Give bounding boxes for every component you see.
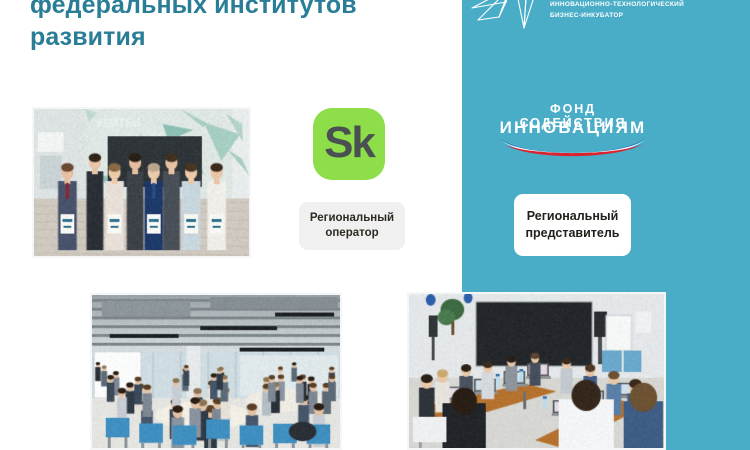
coworking-session-photo [90,293,342,450]
fond-innovatsiyam-logo: ФОНД СОДЕЙСТВИЯ ИННОВАЦИЯМ [497,100,649,162]
page-title-line-1: федеральных институтов [30,0,450,22]
chip-regional-operator-label: Региональныйоператор [305,211,399,242]
page-title: федеральных институтов развития [30,0,450,53]
slide-canvas: федеральных институтов развития КРАСНОЯР… [0,0,750,450]
origami-bird-icon [466,0,546,38]
kritbi-text-line-3: БИЗНЕС-ИНКУБАТОР [550,10,750,21]
skolkovo-sk-text: Sk [324,121,374,165]
award-group-photo [32,107,251,258]
award-group-photo-image [34,109,249,256]
coworking-session-photo-image [92,295,340,448]
russian-tricolor-swoosh-icon [497,136,649,162]
page-title-line-2: развития [30,22,450,54]
workshop-room-photo-image [409,294,664,448]
chip-regional-representative-label: Региональныйпредставитель [520,208,624,242]
skolkovo-sk-logo: Sk [313,108,385,180]
fond-logo-line-2: ИННОВАЦИЯМ [497,118,649,138]
kritbi-text-line-2: ИННОВАЦИОННО-ТЕХНОЛОГИЧЕСКИЙ [550,0,750,10]
kritbi-logo: КРАСНОЯРСКИЙ РЕГИОНАЛЬНЫЙ ИННОВАЦИОННО-Т… [464,0,750,44]
chip-regional-operator: Региональныйоператор [299,202,405,250]
kritbi-logo-text: КРАСНОЯРСКИЙ РЕГИОНАЛЬНЫЙ ИННОВАЦИОННО-Т… [550,0,750,21]
workshop-room-photo [407,292,666,450]
chip-regional-representative: Региональныйпредставитель [514,194,631,256]
